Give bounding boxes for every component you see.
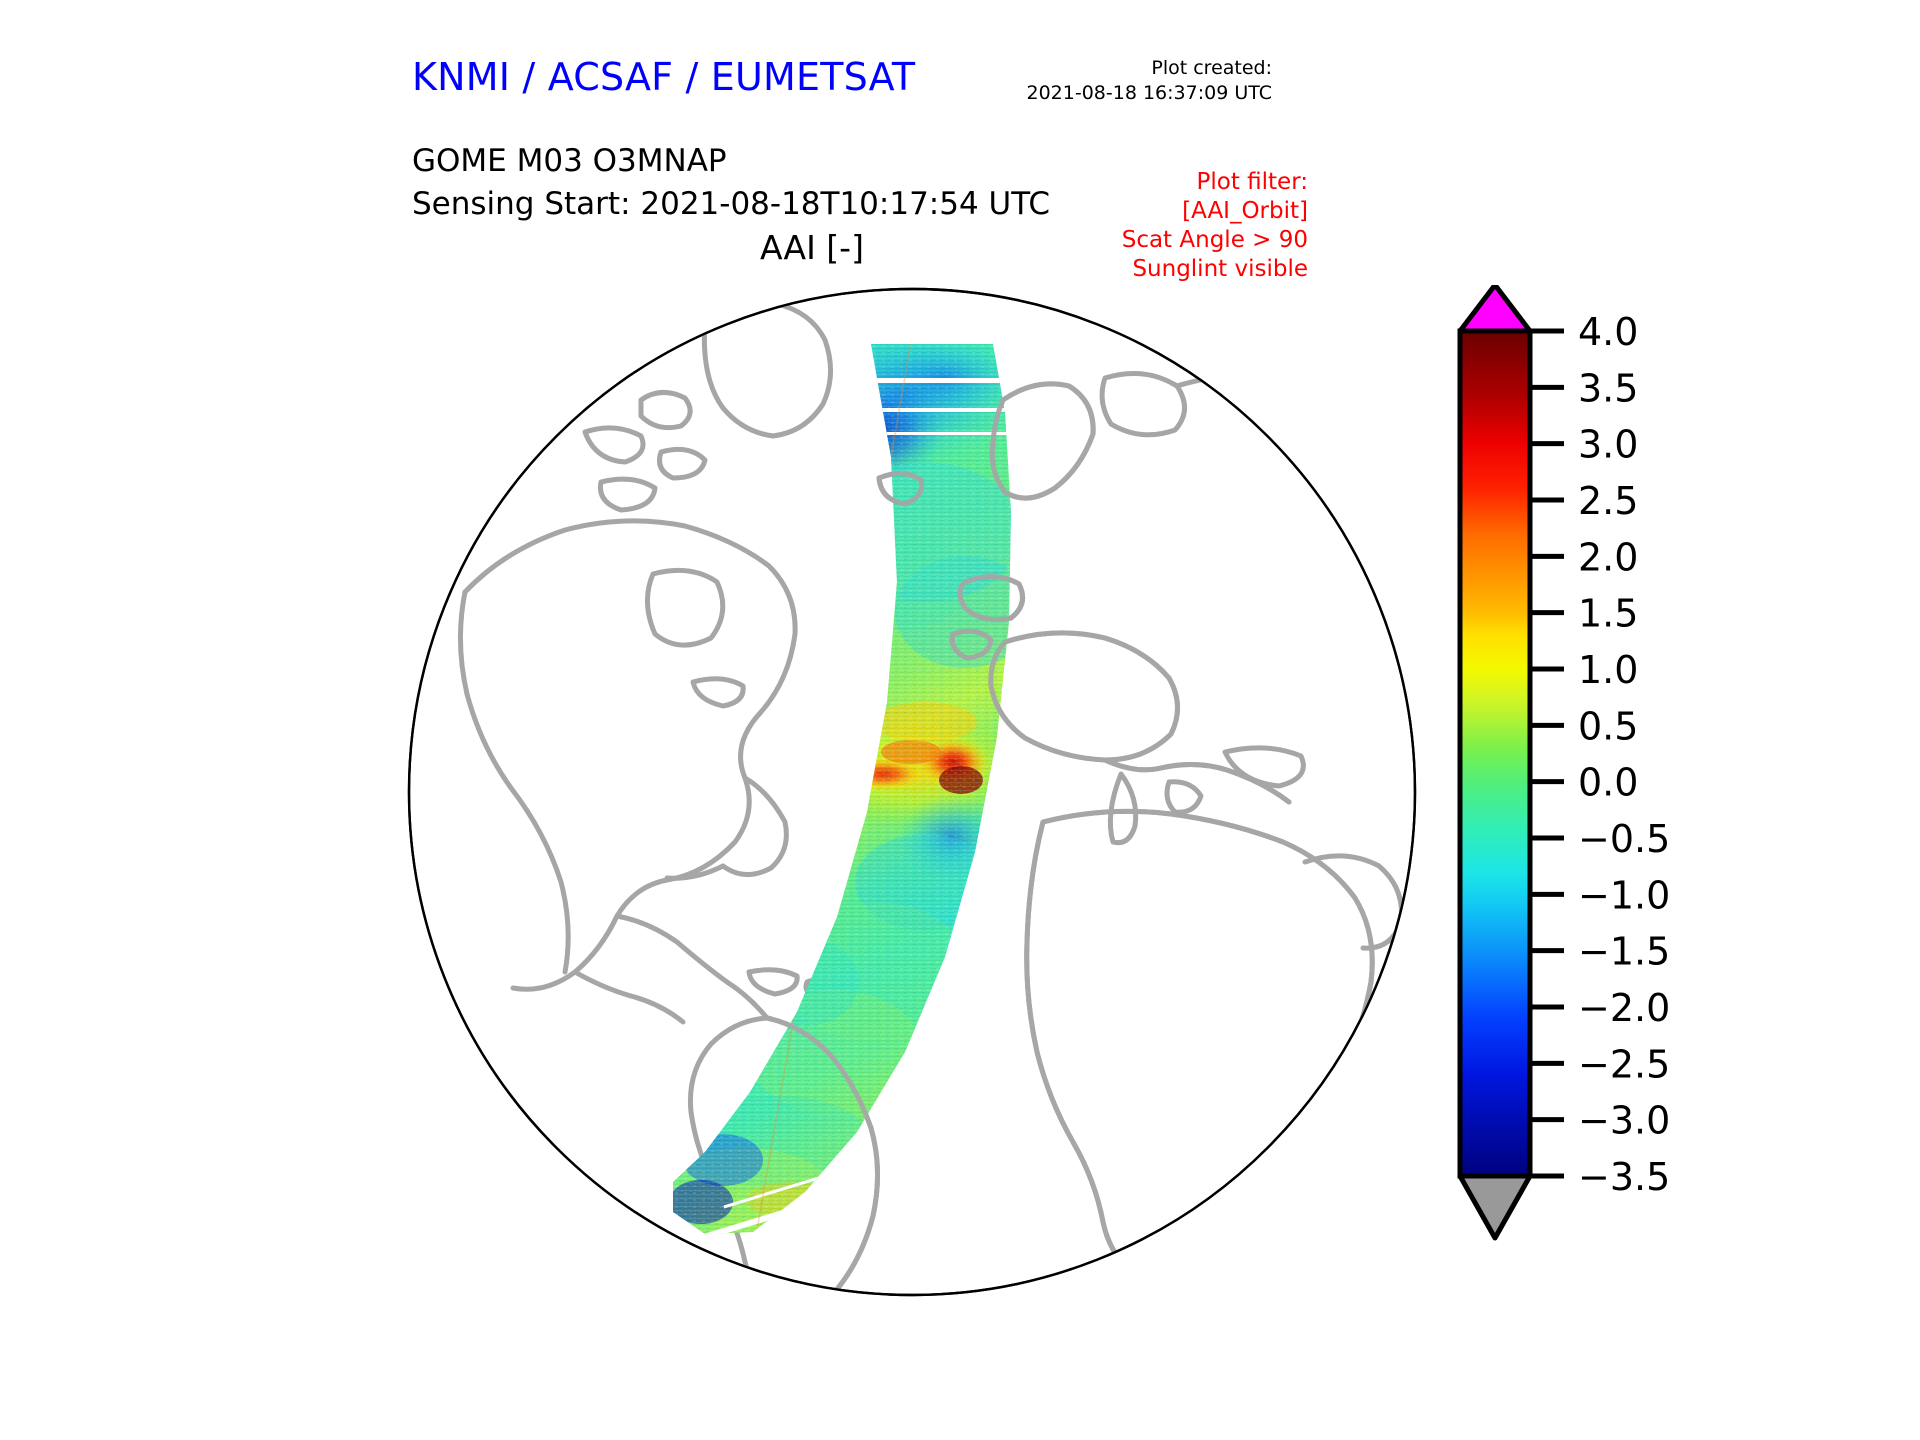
colorbar-tick-label: 3.0 [1578,423,1638,467]
colorbar-over-arrow [1460,285,1530,331]
colorbar-gradient [1460,331,1530,1176]
plot-filter-block: Plot filter: [AAI_Orbit] Scat Angle > 90… [1122,168,1308,284]
colorbar-tick-label: 1.5 [1578,592,1638,636]
map-panel [405,282,1420,1302]
colorbar: 4.03.53.02.52.01.51.00.50.0−0.5−1.0−1.5−… [1448,285,1868,1305]
colorbar-tick-label: −2.5 [1578,1042,1670,1086]
colorbar-tick-label: −3.5 [1578,1155,1670,1199]
plot-created-label: Plot created: [1027,56,1273,81]
sensing-start-line: Sensing Start: 2021-08-18T10:17:54 UTC [412,183,1050,226]
plot-created-block: Plot created: 2021-08-18 16:37:09 UTC [1027,56,1273,106]
colorbar-tick-label: −3.0 [1578,1099,1670,1143]
colorbar-tick-label: 0.5 [1578,704,1638,748]
colorbar-under-arrow [1460,1176,1530,1238]
dataset-meta-block: GOME M03 O3MNAP Sensing Start: 2021-08-1… [412,140,1050,226]
colorbar-tick-label: −2.0 [1578,986,1670,1030]
plot-filter-title: Plot filter: [1122,168,1308,197]
instrument-line: GOME M03 O3MNAP [412,140,1050,183]
colorbar-panel: 4.03.53.02.52.01.51.00.50.0−0.5−1.0−1.5−… [1448,285,1868,1305]
organisation-title: KNMI / ACSAF / EUMETSAT [412,55,915,99]
page-title: AAI [-] [412,228,1212,267]
colorbar-tick-label: −1.5 [1578,930,1670,974]
plot-filter-line-1: [AAI_Orbit] [1122,197,1308,226]
colorbar-ticks: 4.03.53.02.52.01.51.00.50.0−0.5−1.0−1.5−… [1530,310,1670,1199]
plot-created-timestamp: 2021-08-18 16:37:09 UTC [1027,81,1273,106]
plot-filter-line-3: Sunglint visible [1122,255,1308,284]
plot-canvas: KNMI / ACSAF / EUMETSAT Plot created: 20… [0,0,1920,1440]
globe-orthographic-projection [405,282,1420,1302]
colorbar-tick-label: 2.0 [1578,535,1638,579]
colorbar-tick-label: 4.0 [1578,310,1638,354]
colorbar-tick-label: 2.5 [1578,479,1638,523]
colorbar-tick-label: 0.0 [1578,761,1638,805]
colorbar-tick-label: 1.0 [1578,648,1638,692]
colorbar-tick-label: −1.0 [1578,873,1670,917]
plot-filter-line-2: Scat Angle > 90 [1122,226,1308,255]
colorbar-tick-label: 3.5 [1578,366,1638,410]
colorbar-tick-label: −0.5 [1578,817,1670,861]
